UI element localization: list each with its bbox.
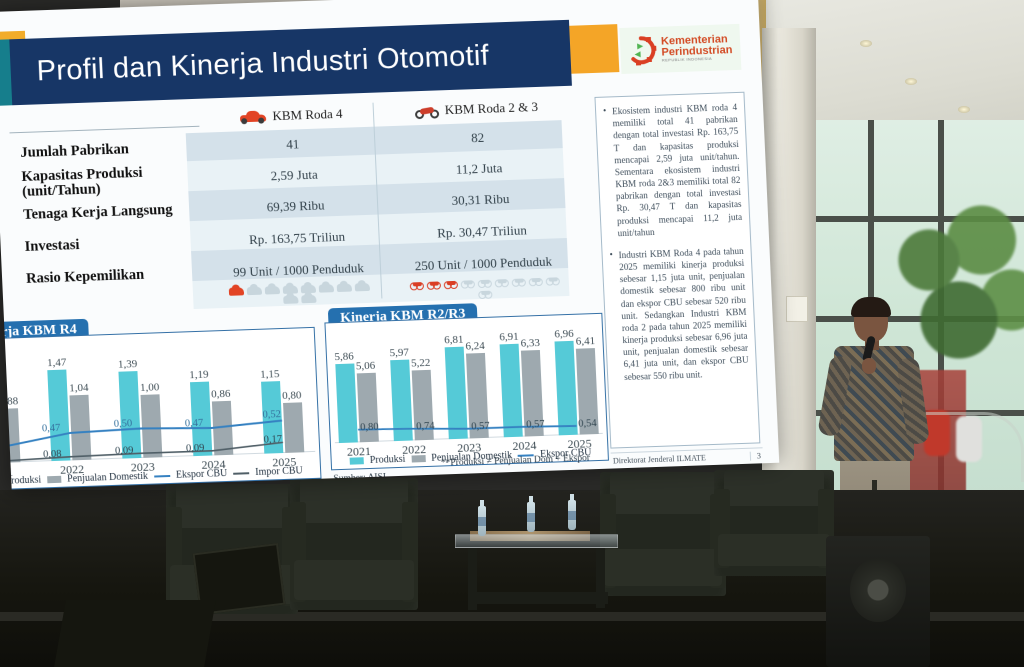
logo-line-3: REPUBLIK INDONESIA — [662, 56, 733, 62]
line-value-label: 0,57 — [471, 421, 490, 433]
row-value-r23: Rp. 30,47 Triliun — [389, 221, 575, 243]
row-value-r23: 11,2 Juta — [386, 158, 572, 180]
row-label: Investasi — [14, 234, 205, 256]
line-value-label: 0,17 — [263, 434, 282, 446]
footer-text: Direktorat Jenderal ILMATE — [613, 453, 706, 465]
row-value-r4: 99 Unit / 1000 Penduduk — [206, 259, 392, 281]
page-number: 3 — [750, 451, 761, 460]
spotlight-icon — [905, 78, 917, 85]
row-value-r4: 41 — [200, 133, 386, 155]
legend-swatch-penjualan — [411, 455, 425, 462]
chart-r4: 0,88 2021 1,47 1,04 2022 1,39 1,00 2023 … — [0, 328, 320, 490]
floor-monitor-speaker — [54, 600, 216, 667]
legend-swatch-produksi — [350, 457, 364, 464]
legend-label: Impor CBU — [255, 465, 303, 478]
chart-r2r3: 5,86 5,06 2021 5,97 5,22 2022 6,81 6,24 … — [325, 314, 607, 469]
stage-armchair — [290, 478, 418, 610]
row-value-r23: 82 — [385, 127, 571, 149]
table-shelf — [468, 592, 608, 604]
accent-orange-block — [569, 24, 619, 74]
stage-armchair — [600, 472, 726, 596]
legend-label: Ekspor CBU — [176, 468, 228, 481]
legend-label: Produksi — [370, 454, 406, 466]
line-value-label: 0,09 — [115, 445, 134, 457]
stage-armchair — [714, 470, 834, 576]
stage-coffee-table — [455, 534, 618, 548]
chart-panel-r4: 0,88 2021 1,47 1,04 2022 1,39 1,00 2023 … — [0, 327, 322, 490]
kemenperin-logo: Kementerian Perindustrian REPUBLIK INDON… — [619, 24, 741, 74]
row-value-r23: 250 Unit / 1000 Penduduk — [391, 253, 577, 275]
row-value-r4: 69,39 Ribu — [203, 195, 389, 217]
slide-title-bar: Profil dan Kinerja Industri Otomotif — [9, 20, 572, 105]
legend-swatch-penjualan — [47, 476, 61, 483]
line-value-label: 0,80 — [360, 422, 379, 434]
row-value-r4: Rp. 163,75 Triliun — [204, 227, 390, 249]
bullet-item: Ekosistem industri KBM roda 4 memiliki t… — [603, 101, 743, 239]
chart-panel-r2r3: 5,86 5,06 2021 5,97 5,22 2022 6,81 6,24 … — [324, 313, 609, 471]
car-icon — [240, 110, 267, 124]
line-value-label: 0,47 — [185, 418, 204, 430]
table-header-col1: KBM Roda 4 — [272, 106, 343, 124]
line-value-label: 0,09 — [186, 443, 205, 455]
line-value-label: 0,74 — [416, 421, 435, 433]
water-bottle — [568, 500, 576, 530]
water-bottle — [527, 502, 535, 532]
spotlight-icon — [860, 40, 872, 47]
water-bottle — [478, 506, 486, 536]
bullet-item: Industri KBM Roda 4 pada tahun 2025 memi… — [609, 245, 749, 383]
legend-label: Produksi — [5, 474, 41, 486]
line-value-label: 0,52 — [262, 409, 281, 421]
legend-line-ekspor — [154, 474, 170, 477]
line-value-label: 0,50 — [114, 418, 133, 430]
row-label: Tenaga Kerja Langsung — [13, 202, 204, 224]
row-value-r23: 30,31 Ribu — [388, 189, 574, 211]
page-title: Profil dan Kinerja Industri Otomotif — [36, 39, 490, 88]
pa-speaker — [826, 536, 930, 667]
row-value-r4: 2,59 Juta — [201, 164, 387, 186]
line-value-label: 0,08 — [43, 449, 62, 461]
row-label: Rasio Kepemilikan — [16, 266, 207, 288]
chart-r2r3-lines — [325, 314, 607, 470]
line-value-label: 0,54 — [578, 418, 597, 430]
insights-panel: Ekosistem industri KBM roda 4 memiliki t… — [594, 92, 760, 449]
line-value-label: 0,47 — [42, 423, 61, 435]
gear-logo-icon — [626, 35, 657, 66]
car-ratio-icons — [224, 283, 375, 306]
spotlight-icon — [958, 106, 970, 113]
table-header-col2: KBM Roda 2 & 3 — [444, 99, 538, 118]
profile-table: KBM Roda 4 KBM Roda 2 & 3 Jumlah Pabrika… — [9, 92, 578, 325]
motorcycle-ratio-icons — [409, 276, 560, 301]
wall-notice-sign — [786, 296, 808, 322]
motorcycle-icon — [414, 102, 439, 119]
line-value-label: 0,57 — [526, 419, 545, 431]
legend-line-impor — [233, 472, 249, 475]
projection-screen: Profil dan Kinerja Industri Otomotif Kem… — [0, 0, 779, 490]
row-label: Jumlah Pabrikan — [10, 140, 201, 162]
